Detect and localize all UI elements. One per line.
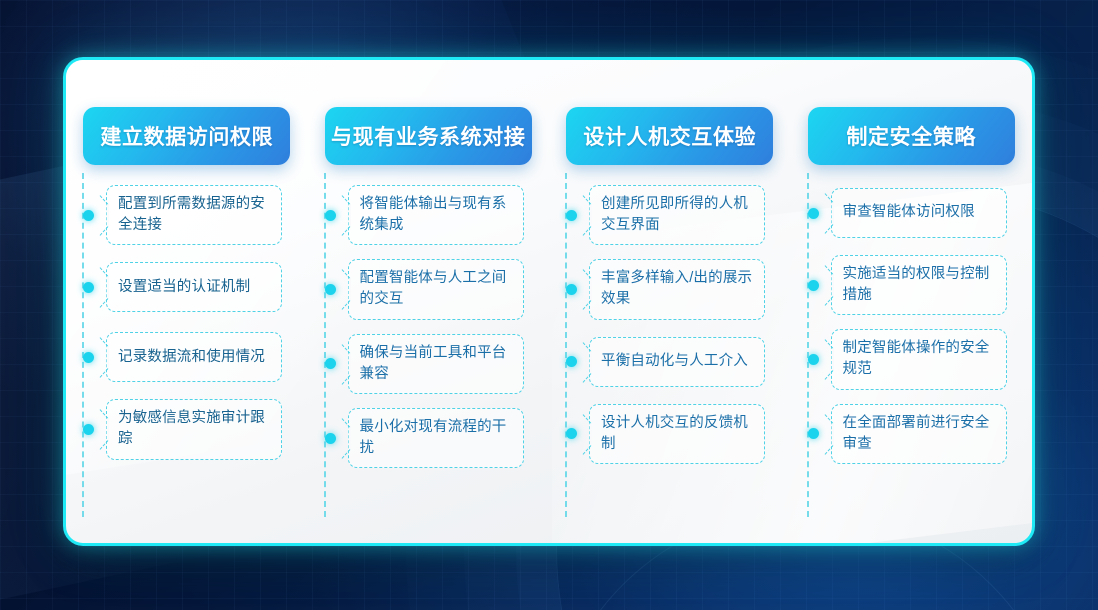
item-bubble[interactable]: 平衡自动化与人工介入 <box>589 337 765 387</box>
column-2-header[interactable]: 与现有业务系统对接 <box>325 107 532 165</box>
bubble-notch <box>105 276 109 298</box>
bubble-notch <box>105 204 109 226</box>
column-4-body: 审查智能体访问权限 实施适当的权限与控制措施 <box>798 185 1026 543</box>
item-label: 配置到所需数据源的安全连接 <box>118 194 272 236</box>
list-item[interactable]: 最小化对现有流程的干扰 <box>321 408 543 468</box>
item-label: 在全面部署前进行安全审查 <box>843 413 997 455</box>
node-dot-icon <box>566 284 577 295</box>
item-label: 丰富多样输入/出的展示效果 <box>601 268 755 310</box>
item-bubble[interactable]: 设计人机交互的反馈机制 <box>589 404 765 464</box>
column-1-header-label: 建立数据访问权限 <box>100 121 273 151</box>
item-label: 记录数据流和使用情况 <box>118 347 265 368</box>
list-item[interactable]: 将智能体输出与现有系统集成 <box>321 185 543 245</box>
node-dot-icon <box>325 210 336 221</box>
node-dot-icon <box>808 208 819 219</box>
item-label: 制定智能体操作的安全规范 <box>843 338 997 380</box>
item-bubble[interactable]: 确保与当前工具和平台兼容 <box>348 334 524 394</box>
bubble-notch <box>588 423 592 445</box>
node-dot-icon <box>566 210 577 221</box>
column-4-header[interactable]: 制定安全策略 <box>808 107 1015 165</box>
column-2: 与现有业务系统对接 将智能体输出与现有系统集成 <box>308 60 550 543</box>
item-bubble[interactable]: 配置到所需数据源的安全连接 <box>106 185 282 245</box>
node-dot-icon <box>808 280 819 291</box>
item-bubble[interactable]: 创建所见即所得的人机交互界面 <box>589 185 765 245</box>
item-bubble[interactable]: 配置智能体与人工之间的交互 <box>348 259 524 319</box>
column-2-header-label: 与现有业务系统对接 <box>331 121 525 151</box>
column-3: 设计人机交互体验 创建所见即所得的人机交互界面 <box>549 60 791 543</box>
item-bubble[interactable]: 在全面部署前进行安全审查 <box>831 404 1007 464</box>
list-item[interactable]: 丰富多样输入/出的展示效果 <box>562 259 784 319</box>
item-label: 最小化对现有流程的干扰 <box>360 417 514 459</box>
column-1: 建立数据访问权限 配置到所需数据源的安全连接 <box>66 60 308 543</box>
list-item[interactable]: 在全面部署前进行安全审查 <box>804 404 1026 464</box>
item-bubble[interactable]: 实施适当的权限与控制措施 <box>831 255 1007 315</box>
list-item[interactable]: 制定智能体操作的安全规范 <box>804 329 1026 389</box>
node-dot-icon <box>83 210 94 221</box>
bubble-notch <box>105 346 109 368</box>
node-dot-icon <box>83 424 94 435</box>
bubble-notch <box>347 278 351 300</box>
bubble-notch <box>347 204 351 226</box>
item-label: 设计人机交互的反馈机制 <box>601 413 755 455</box>
item-bubble[interactable]: 设置适当的认证机制 <box>106 262 282 312</box>
item-label: 为敏感信息实施审计跟踪 <box>118 408 272 450</box>
bubble-notch <box>347 353 351 375</box>
list-item[interactable]: 为敏感信息实施审计跟踪 <box>79 399 301 459</box>
list-item[interactable]: 配置智能体与人工之间的交互 <box>321 259 543 319</box>
bubble-notch <box>105 418 109 440</box>
column-4-items: 审查智能体访问权限 实施适当的权限与控制措施 <box>804 185 1026 464</box>
list-item[interactable]: 审查智能体访问权限 <box>804 185 1026 241</box>
bubble-notch <box>830 348 834 370</box>
list-item[interactable]: 设计人机交互的反馈机制 <box>562 404 784 464</box>
list-item[interactable]: 实施适当的权限与控制措施 <box>804 255 1026 315</box>
node-dot-icon <box>83 282 94 293</box>
item-bubble[interactable]: 将智能体输出与现有系统集成 <box>348 185 524 245</box>
bubble-notch <box>830 423 834 445</box>
column-3-header[interactable]: 设计人机交互体验 <box>566 107 773 165</box>
node-dot-icon <box>325 284 336 295</box>
node-dot-icon <box>83 352 94 363</box>
item-label: 配置智能体与人工之间的交互 <box>360 268 514 310</box>
item-bubble[interactable]: 丰富多样输入/出的展示效果 <box>589 259 765 319</box>
column-4: 制定安全策略 审查智能体访问权限 <box>791 60 1033 543</box>
item-label: 实施适当的权限与控制措施 <box>843 264 997 306</box>
column-1-header[interactable]: 建立数据访问权限 <box>83 107 290 165</box>
node-dot-icon <box>325 358 336 369</box>
column-3-header-label: 设计人机交互体验 <box>583 121 756 151</box>
list-item[interactable]: 设置适当的认证机制 <box>79 259 301 315</box>
bubble-notch <box>588 204 592 226</box>
item-bubble[interactable]: 审查智能体访问权限 <box>831 188 1007 238</box>
item-bubble[interactable]: 记录数据流和使用情况 <box>106 332 282 382</box>
item-label: 确保与当前工具和平台兼容 <box>360 343 514 385</box>
item-label: 将智能体输出与现有系统集成 <box>360 194 514 236</box>
column-container: 建立数据访问权限 配置到所需数据源的安全连接 <box>66 60 1032 543</box>
list-item[interactable]: 确保与当前工具和平台兼容 <box>321 334 543 394</box>
node-dot-icon <box>566 428 577 439</box>
item-label: 审查智能体访问权限 <box>843 202 975 223</box>
item-label: 平衡自动化与人工介入 <box>601 351 748 372</box>
bubble-notch <box>830 274 834 296</box>
item-bubble[interactable]: 为敏感信息实施审计跟踪 <box>106 399 282 459</box>
slide-canvas: 建立数据访问权限 配置到所需数据源的安全连接 <box>0 0 1098 610</box>
list-item[interactable]: 创建所见即所得的人机交互界面 <box>562 185 784 245</box>
item-label: 设置适当的认证机制 <box>118 277 250 298</box>
bubble-notch <box>830 202 834 224</box>
column-1-items: 配置到所需数据源的安全连接 设置适当的认证机制 <box>79 185 301 460</box>
column-1-body: 配置到所需数据源的安全连接 设置适当的认证机制 <box>73 185 301 543</box>
column-2-items: 将智能体输出与现有系统集成 配置智能体与人工之间的交互 <box>321 185 543 468</box>
node-dot-icon <box>808 428 819 439</box>
bubble-notch <box>588 278 592 300</box>
list-item[interactable]: 平衡自动化与人工介入 <box>562 334 784 390</box>
column-3-items: 创建所见即所得的人机交互界面 丰富多样输入/出的展示效果 <box>562 185 784 464</box>
bubble-notch <box>588 351 592 373</box>
item-bubble[interactable]: 制定智能体操作的安全规范 <box>831 329 1007 389</box>
list-item[interactable]: 记录数据流和使用情况 <box>79 329 301 385</box>
content-panel: 建立数据访问权限 配置到所需数据源的安全连接 <box>63 57 1035 546</box>
column-3-body: 创建所见即所得的人机交互界面 丰富多样输入/出的展示效果 <box>556 185 784 543</box>
item-bubble[interactable]: 最小化对现有流程的干扰 <box>348 408 524 468</box>
bubble-notch <box>347 427 351 449</box>
column-4-header-label: 制定安全策略 <box>846 121 976 151</box>
node-dot-icon <box>808 354 819 365</box>
node-dot-icon <box>325 433 336 444</box>
list-item[interactable]: 配置到所需数据源的安全连接 <box>79 185 301 245</box>
column-2-body: 将智能体输出与现有系统集成 配置智能体与人工之间的交互 <box>315 185 543 543</box>
item-label: 创建所见即所得的人机交互界面 <box>601 194 755 236</box>
node-dot-icon <box>566 356 577 367</box>
